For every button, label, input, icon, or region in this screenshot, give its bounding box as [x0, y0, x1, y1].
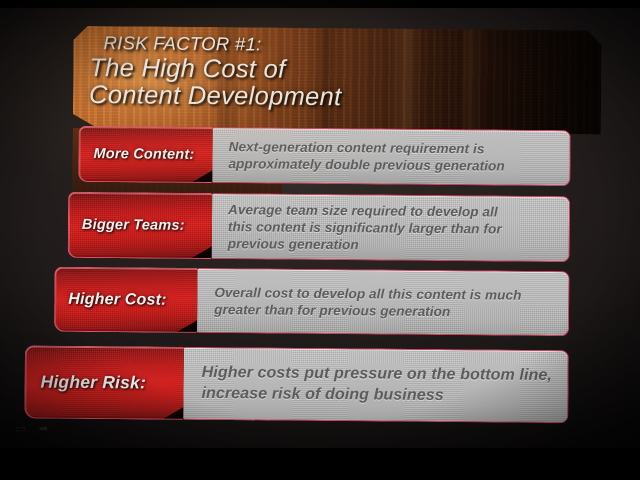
content-row: Higher Risk: Higher costs put pressure o… — [24, 345, 569, 423]
row-body-text: Overall cost to develop all this content… — [197, 283, 568, 320]
row-label-panel: Higher Cost: — [54, 267, 198, 333]
row-label-panel: More Content: — [78, 126, 212, 183]
row-body-panel: Overall cost to develop all this content… — [197, 268, 570, 336]
row-body-line: increase risk of doing business — [201, 383, 567, 406]
projected-slide-photo: RISK FACTOR #1: The High Cost of Content… — [0, 0, 640, 480]
row-body-text: Average team size required to develop al… — [212, 201, 569, 255]
content-row: Higher Cost: Overall cost to develop all… — [54, 267, 570, 336]
slide-title-line-2: Content Development — [89, 83, 557, 113]
label-bevel-corner — [191, 170, 212, 183]
row-label-text: Higher Cost: — [55, 290, 197, 309]
row-body-line: Higher costs put pressure on the bottom … — [202, 363, 568, 386]
row-body-panel: Average team size required to develop al… — [212, 193, 571, 262]
row-body-line: greater than for previous generation — [214, 301, 568, 321]
row-label-text: Higher Risk: — [25, 371, 183, 393]
label-bevel-corner — [191, 246, 213, 259]
label-bevel-corner — [162, 407, 184, 420]
label-bevel-corner — [176, 320, 198, 333]
row-body-line: approximately double previous generation — [228, 155, 569, 175]
content-row: More Content: Next-generation content re… — [78, 126, 570, 186]
row-body-panel: Next-generation content requirement is a… — [212, 127, 570, 186]
row-body-panel: Higher costs put pressure on the bottom … — [183, 347, 569, 423]
row-body-text: Next-generation content requirement is a… — [212, 138, 569, 175]
content-row: Bigger Teams: Average team size required… — [68, 192, 571, 262]
row-label-text: Bigger Teams: — [69, 217, 212, 234]
row-body-line: previous generation — [228, 235, 569, 255]
row-label-text: More Content: — [79, 146, 212, 163]
slide-title-block: RISK FACTOR #1: The High Cost of Content… — [87, 34, 558, 114]
row-body-text: Higher costs put pressure on the bottom … — [183, 363, 567, 407]
presentation-slide: RISK FACTOR #1: The High Cost of Content… — [0, 7, 640, 433]
slide-eyebrow: RISK FACTOR #1: — [103, 34, 557, 56]
row-label-panel: Higher Risk: — [24, 345, 184, 419]
row-label-panel: Bigger Teams: — [68, 192, 213, 259]
